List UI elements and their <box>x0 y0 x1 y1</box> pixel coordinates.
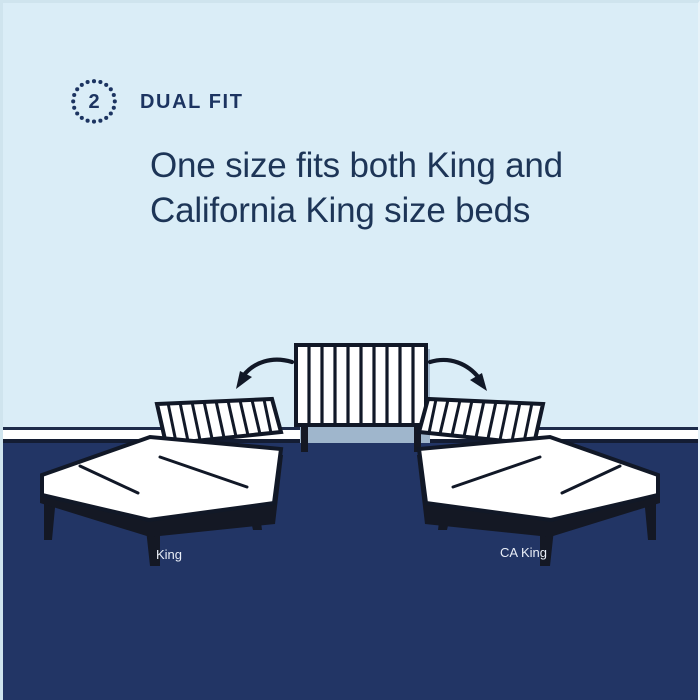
arrow-right-icon <box>430 360 487 391</box>
page-title: One size fits both King and California K… <box>150 144 563 234</box>
bed-ca-king <box>417 399 660 566</box>
bed-king <box>40 399 283 566</box>
step-badge: 2 <box>70 78 118 126</box>
center-headboard <box>296 345 430 452</box>
king-headboard <box>157 399 281 444</box>
eyebrow-row: 2 DUAL FIT <box>70 78 563 126</box>
bed-label-ca-king: CA King <box>500 545 547 560</box>
illustration-scene: 2 DUAL FIT One size fits both King and C… <box>0 0 700 700</box>
eyebrow-label: DUAL FIT <box>140 91 244 114</box>
bed-label-king: King <box>156 547 182 562</box>
step-badge-number: 2 <box>70 78 118 126</box>
arrow-left-icon <box>236 360 292 389</box>
header-block: 2 DUAL FIT One size fits both King and C… <box>70 78 563 234</box>
ca-king-headboard <box>419 399 543 444</box>
